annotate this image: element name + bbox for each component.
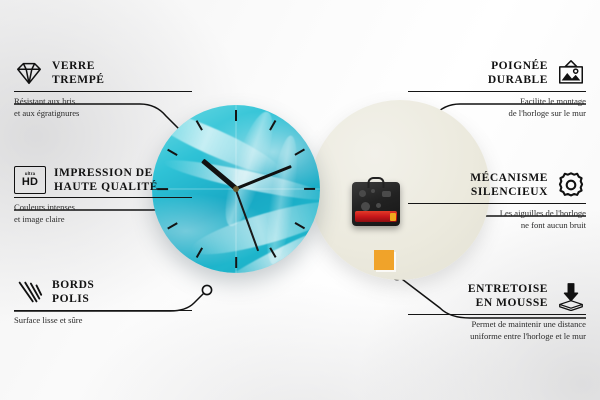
ultra-hd-icon: ultra HD [14,166,46,194]
mechanism-detail [371,189,375,193]
clock-tick [235,110,237,121]
mechanism-detail [361,202,370,211]
gear-icon [556,170,586,200]
feature-title: VERRE TREMPÉ [52,59,105,87]
infographic-canvas: VERRE TREMPÉ Résistant aux bris et aux é… [0,0,600,400]
feature-title: IMPRESSION DE HAUTE QUALITÉ [54,166,158,194]
feature-verre-trempe: VERRE TREMPÉ Résistant aux bris et aux é… [14,58,192,120]
feature-divider [14,91,192,92]
foam-spacer [374,250,394,270]
feature-subtitle: Les aiguilles de l'horloge ne font aucun… [408,208,586,232]
clock-center-cap [233,186,239,192]
feature-subtitle: Permet de maintenir une distance uniform… [408,319,586,343]
feature-divider [408,203,586,204]
mechanism-detail [376,203,381,208]
feature-divider [408,91,586,92]
feature-title: MÉCANISME SILENCIEUX [470,171,548,199]
feature-title: ENTRETOISE EN MOUSSE [468,282,548,310]
clock-tick [235,257,237,268]
clock-tick [167,149,178,156]
feature-divider [408,314,586,315]
mechanism-battery [355,211,397,222]
polished-edges-icon [14,277,44,307]
feature-title: POIGNÉE DURABLE [488,59,548,87]
feature-mecanisme-silencieux: MÉCANISME SILENCIEUX Les aiguilles de l'… [408,170,586,232]
feature-title: BORDS POLIS [52,278,94,306]
feature-divider [14,310,192,311]
feature-poignee-durable: POIGNÉE DURABLE Facilite le montage de l… [408,58,586,120]
feature-subtitle: Surface lisse et sûre [14,315,192,327]
clock-mechanism [352,182,400,226]
connector-endpoint-bords-polis [202,285,211,294]
framed-picture-icon [556,58,586,88]
mechanism-detail [359,190,366,197]
feature-subtitle: Facilite le montage de l'horloge sur le … [408,96,586,120]
mechanism-detail [382,191,391,197]
battery-positive-terminal [390,213,396,221]
mechanism-hanger-icon [368,177,385,188]
diamond-icon [14,58,44,88]
feature-subtitle: Couleurs intenses et image claire [14,202,192,226]
down-arrow-stack-icon [556,281,586,311]
ultra-hd-main-label: HD [22,177,38,188]
clock-tick [304,188,315,190]
feature-impression-haute-qualite: ultra HD IMPRESSION DE HAUTE QUALITÉ Cou… [14,166,192,226]
feature-bords-polis: BORDS POLIS Surface lisse et sûre [14,277,192,327]
feature-entretoise-en-mousse: ENTRETOISE EN MOUSSE Permet de maintenir… [408,281,586,343]
feature-divider [14,197,192,198]
feature-subtitle: Résistant aux bris et aux égratignures [14,96,192,120]
